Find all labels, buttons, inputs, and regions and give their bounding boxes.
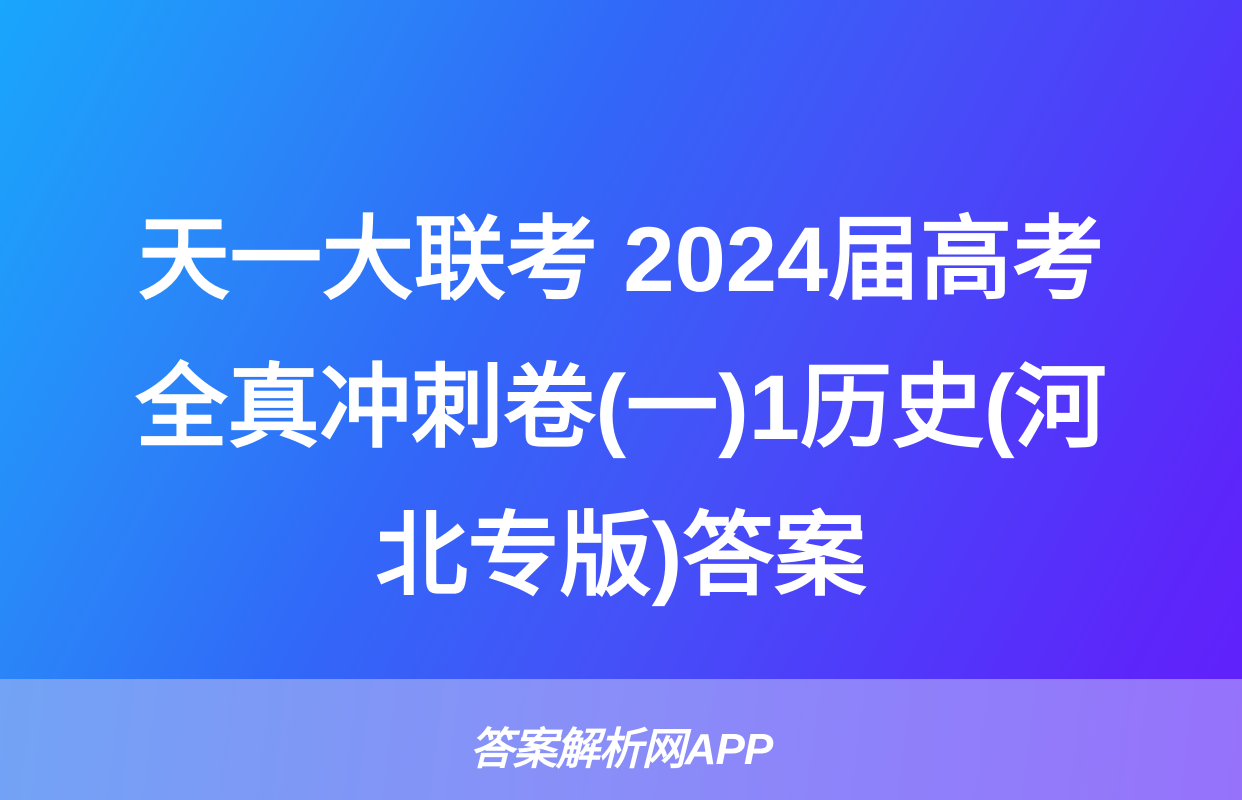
brand-watermark-label: 答案解析网APP xyxy=(470,728,772,772)
watermark-band: 答案解析网APP xyxy=(0,679,1242,800)
page-title-line-2: 全真冲刺卷(一)1历史(河 xyxy=(70,334,1172,482)
page-title-line-3: 北专版)答案 xyxy=(70,482,1172,630)
page-title: 天一大联考 2024届高考 全真冲刺卷(一)1历史(河 北专版)答案 xyxy=(0,186,1242,630)
hero-gradient-panel: 天一大联考 2024届高考 全真冲刺卷(一)1历史(河 北专版)答案 xyxy=(0,0,1242,679)
page-title-line-1: 天一大联考 2024届高考 xyxy=(70,186,1172,334)
answer-cover-poster: 天一大联考 2024届高考 全真冲刺卷(一)1历史(河 北专版)答案 答案解析网… xyxy=(0,0,1242,800)
